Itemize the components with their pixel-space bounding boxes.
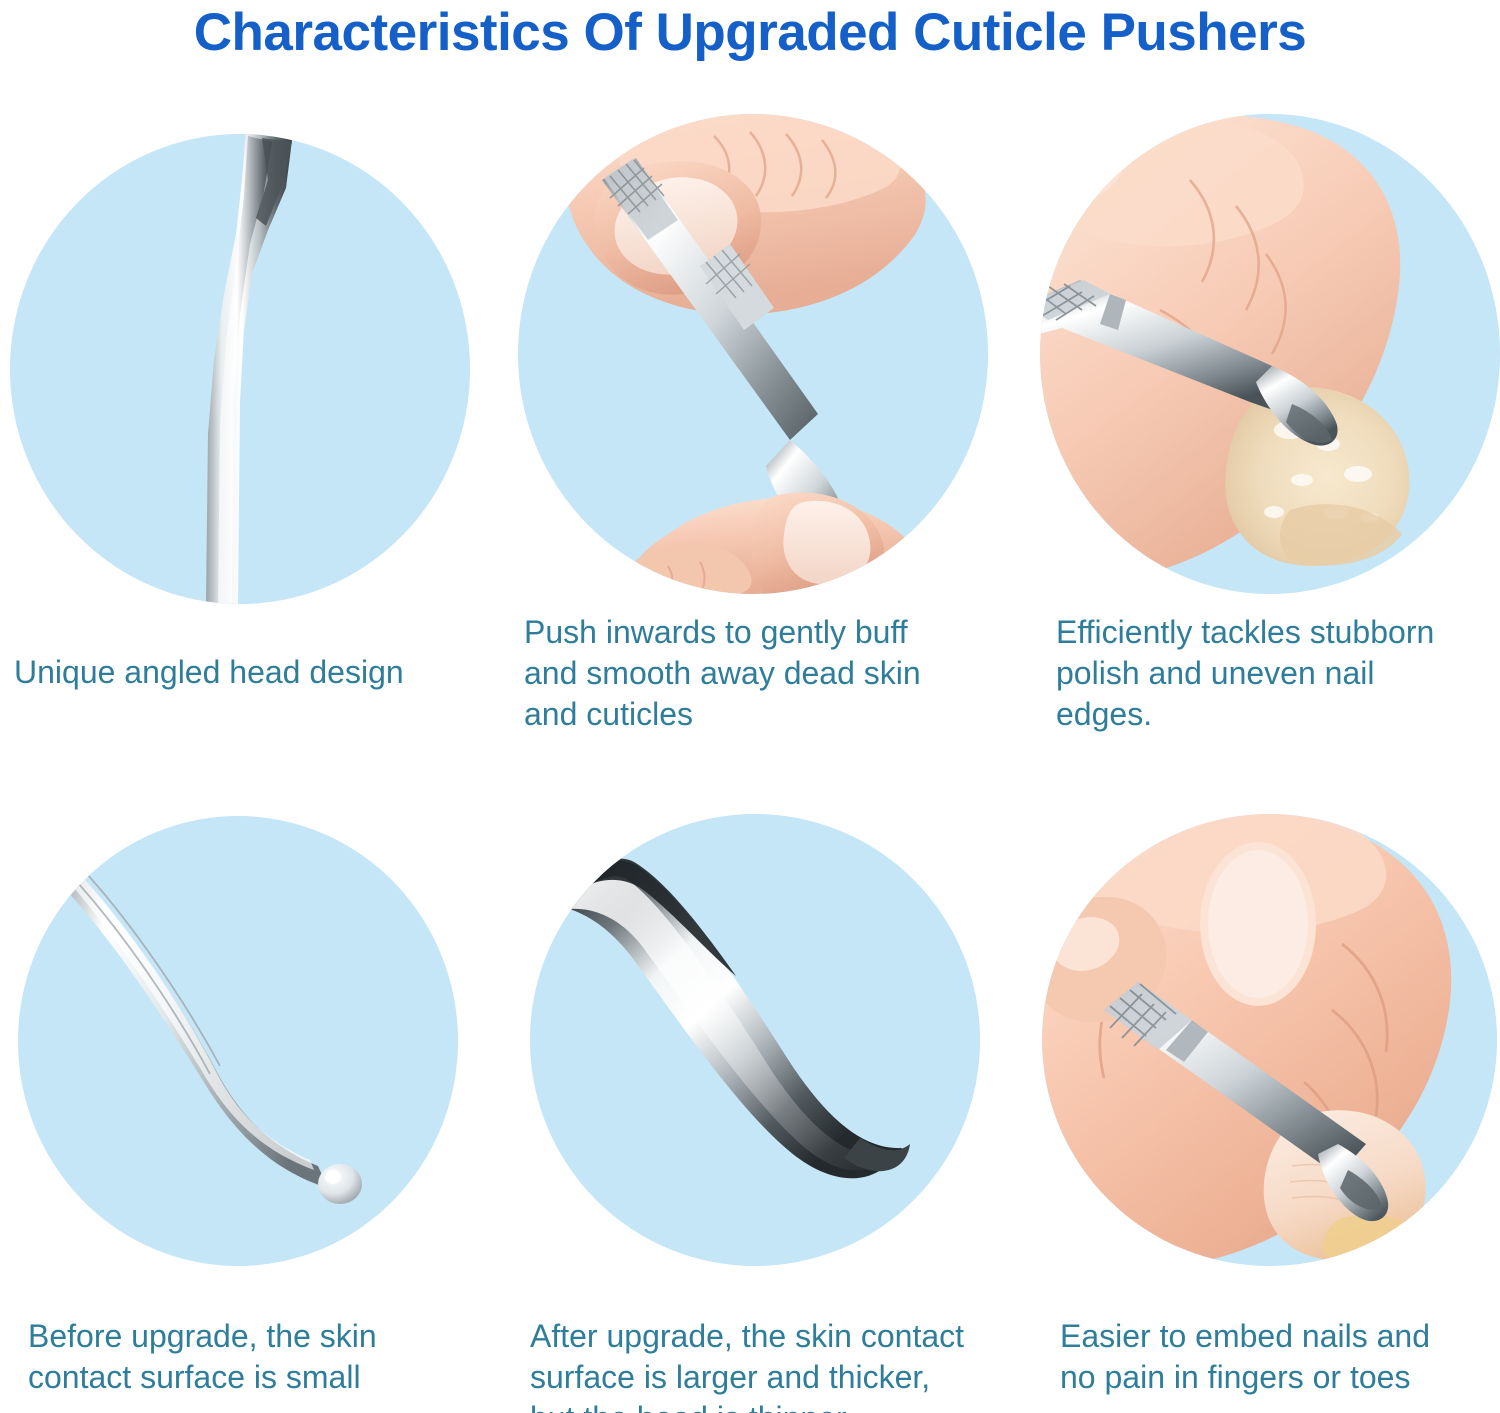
feature-image-push-inwards-buff [518,114,988,594]
feature-grid: Unique angled head design [0,96,1500,1413]
photo-hand-pushing-thumbnail [518,114,988,594]
feature-caption-unique-angled-head: Unique angled head design [14,652,484,693]
feature-card-push-inwards-buff: Push inwards to gently buff and smooth a… [500,96,1020,756]
feature-card-unique-angled-head: Unique angled head design [0,96,500,756]
photo-tool-old-thin-rod [18,816,458,1266]
feature-image-easier-to-embed-nails [1042,814,1497,1266]
feature-caption-easier-to-embed-nails: Easier to embed nails and no pain in fin… [1060,1316,1500,1398]
feature-card-after-upgrade-larger-surface: After upgrade, the skin contact surface … [500,756,1020,1413]
feature-image-unique-angled-head [10,134,470,604]
feature-card-easier-to-embed-nails: Easier to embed nails and no pain in fin… [1020,756,1500,1413]
photo-tool-new-curved-spoon [530,814,980,1266]
feature-image-tackles-stubborn-polish [1040,114,1500,594]
feature-caption-after-upgrade-larger-surface: After upgrade, the skin contact surface … [530,1316,1040,1413]
feature-image-before-upgrade-small-surface [18,816,458,1266]
feature-caption-before-upgrade-small-surface: Before upgrade, the skin contact surface… [28,1316,498,1398]
photo-hand-scraping-polish [1040,114,1500,594]
feature-caption-tackles-stubborn-polish: Efficiently tackles stubborn polish and … [1056,612,1500,735]
feature-card-before-upgrade-small-surface: Before upgrade, the skin contact surface… [0,756,500,1413]
feature-caption-push-inwards-buff: Push inwards to gently buff and smooth a… [524,612,1024,735]
feature-image-after-upgrade-larger-surface [530,814,980,1266]
photo-tool-closeup-angled-head [10,134,470,604]
page-title: Characteristics Of Upgraded Cuticle Push… [0,2,1500,64]
photo-hand-embedding-nail [1042,814,1497,1266]
feature-card-tackles-stubborn-polish: Efficiently tackles stubborn polish and … [1020,96,1500,756]
infographic-page: Characteristics Of Upgraded Cuticle Push… [0,0,1500,1413]
